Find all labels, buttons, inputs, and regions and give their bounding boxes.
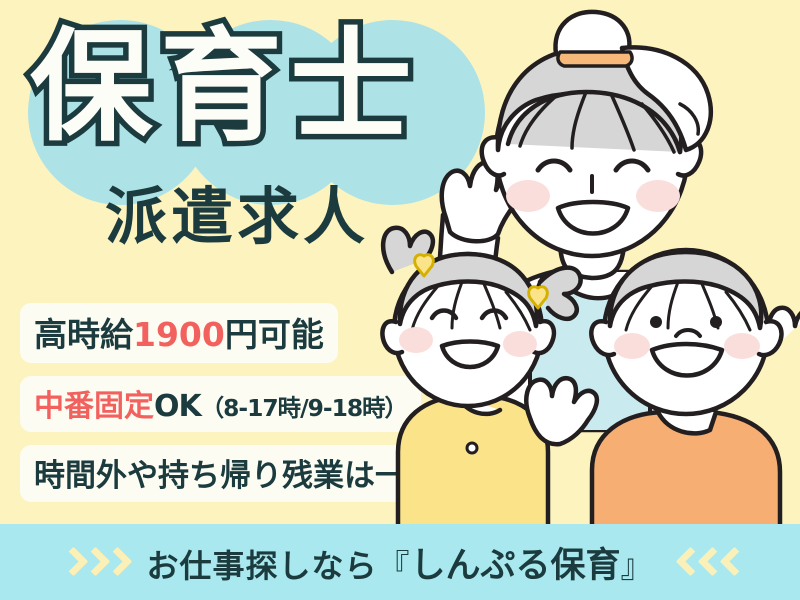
chevron-right-icon-1 xyxy=(61,547,78,577)
chevron-left-icon-3 xyxy=(722,547,739,577)
banner-close-bracket: 』 xyxy=(621,547,654,585)
chevron-right-icon-2 xyxy=(83,547,100,577)
feature-prefix: 高時給 xyxy=(34,315,133,354)
feature-shift-hours: （8-17時/9-18時） xyxy=(201,394,407,422)
poster-root: 保育士 派遣求人 xyxy=(0,0,800,600)
bottom-banner[interactable]: お仕事探しなら『しんぷる保育』 xyxy=(0,524,800,600)
banner-lead-text: お仕事探しなら xyxy=(146,547,377,585)
banner-message: お仕事探しなら『しんぷる保育』 xyxy=(146,537,653,588)
banner-open-bracket: 『 xyxy=(377,547,410,585)
page-title: 保育士 xyxy=(30,26,420,148)
chevrons-right-group xyxy=(61,547,122,577)
feature-pill-hourly-wage: 高時給1900円可能 xyxy=(20,303,338,363)
feature-pill-fixed-shift: 中番固定OK（8-17時/9-18時） xyxy=(20,376,421,432)
page-subtitle: 派遣求人 xyxy=(105,186,369,248)
feature-ok-label: OK xyxy=(154,389,201,424)
chevrons-left-group xyxy=(678,547,739,577)
illustration-childcare-scene xyxy=(380,0,800,540)
chevron-left-icon-1 xyxy=(678,547,695,577)
chevron-left-icon-2 xyxy=(700,547,717,577)
feature-suffix: 円可能 xyxy=(225,315,324,354)
chevron-right-icon-3 xyxy=(105,547,122,577)
feature-accent-shift: 中番固定 xyxy=(34,389,154,424)
brand-name: しんぷる保育 xyxy=(411,546,621,586)
feature-accent-wage: 1900 xyxy=(133,315,225,354)
